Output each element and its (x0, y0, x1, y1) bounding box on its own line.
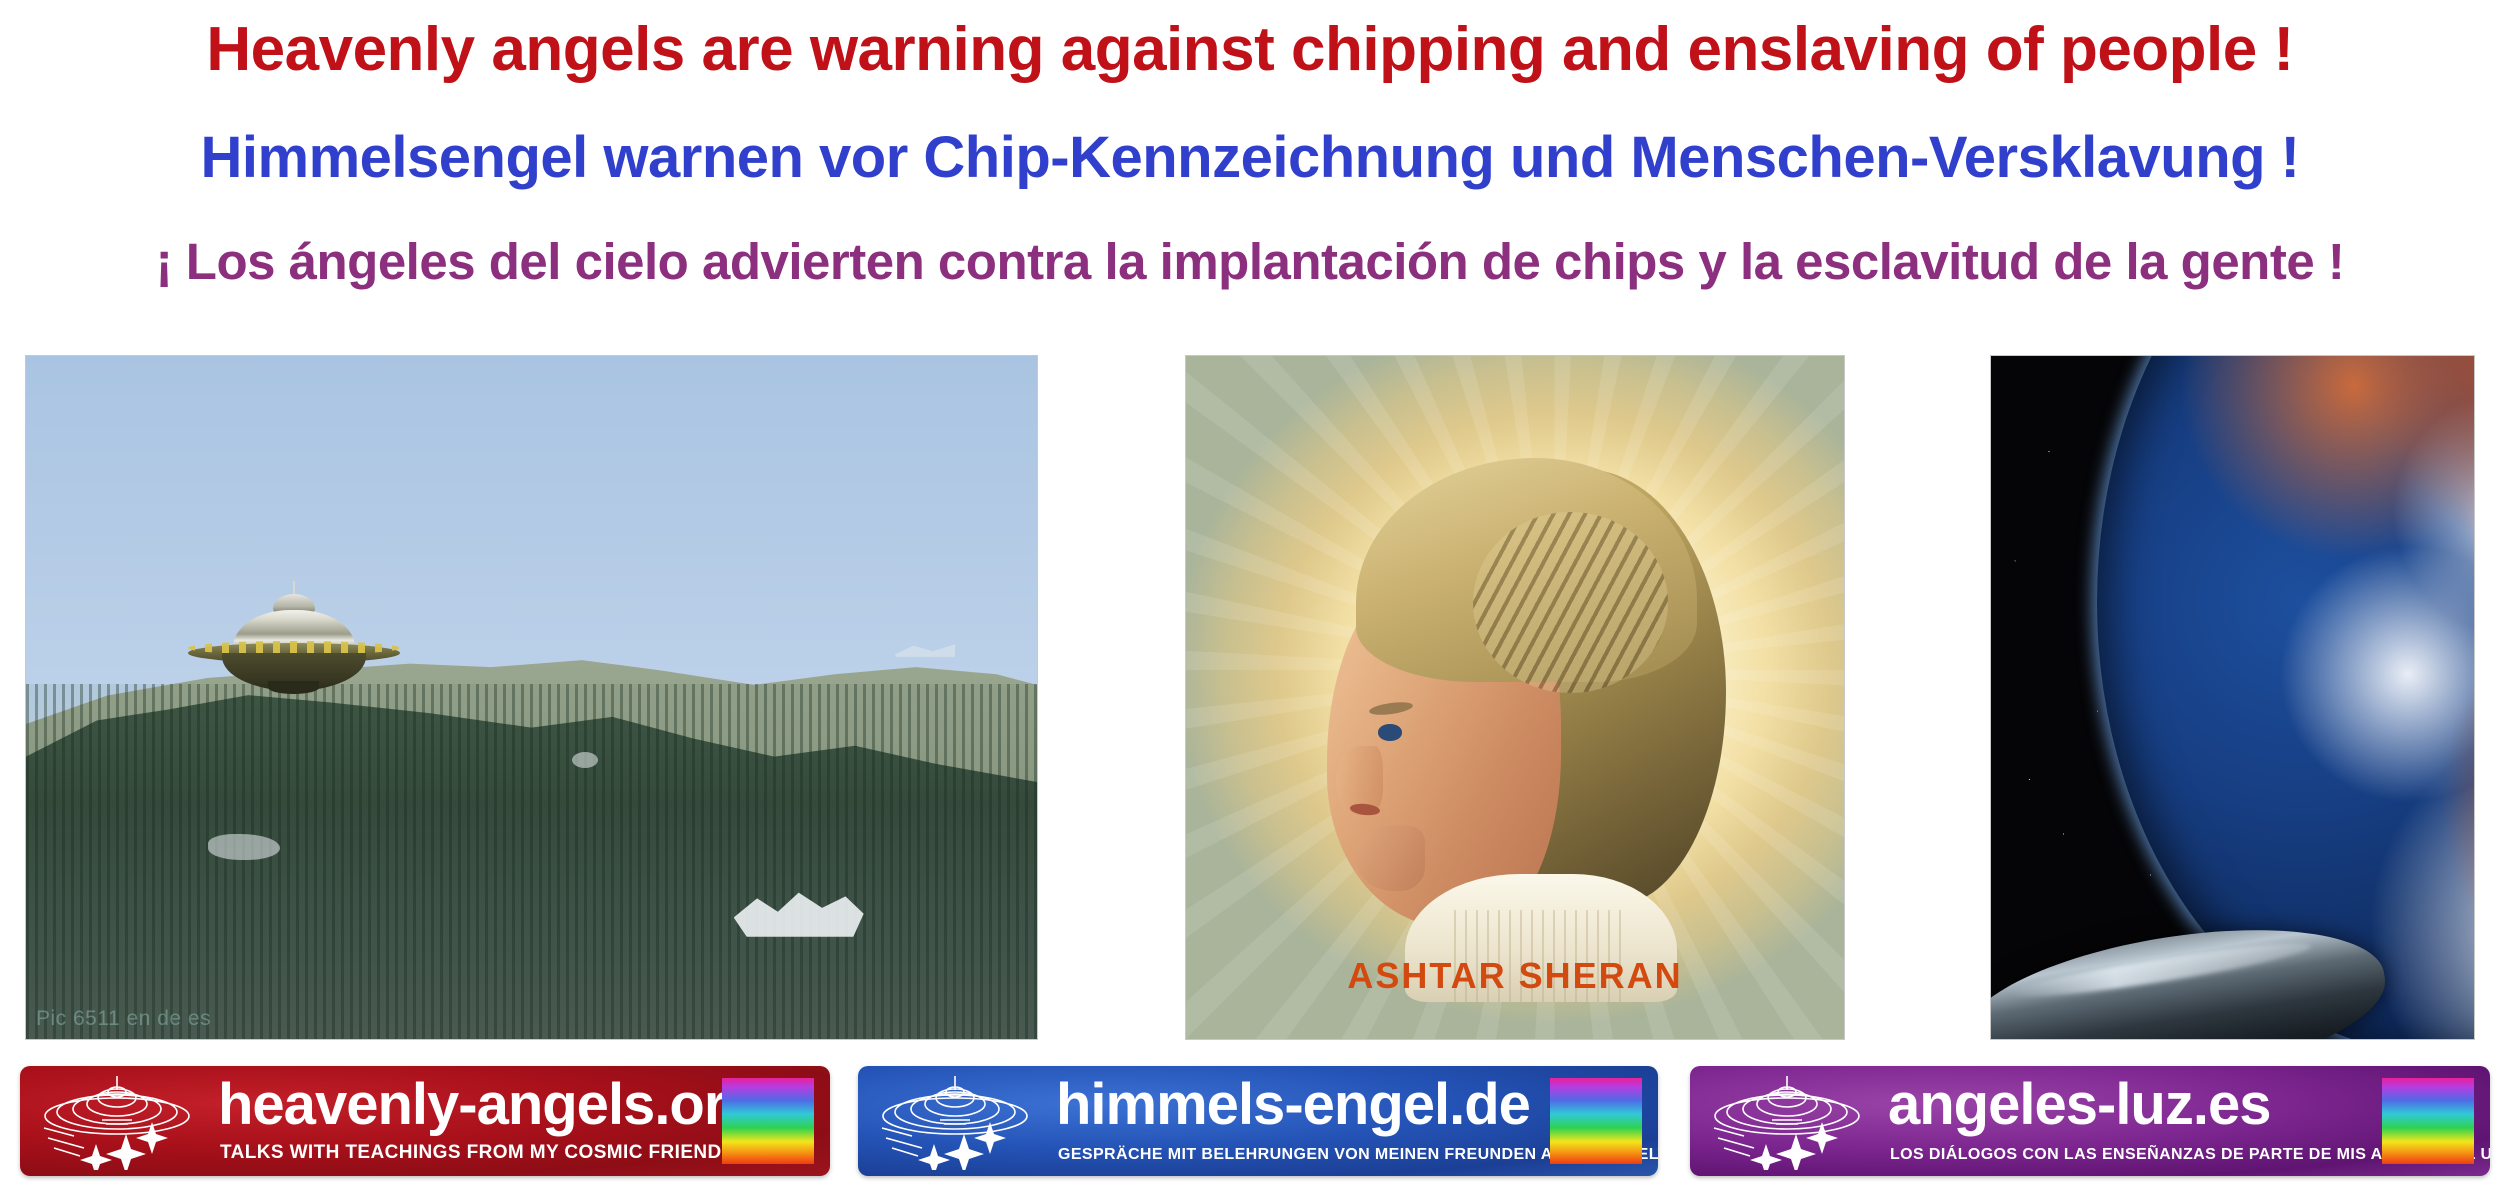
banner-logo (1706, 1072, 1884, 1172)
hair-wave-texture (1473, 512, 1668, 693)
poster-root: Heavenly angels are warning against chip… (0, 0, 2500, 1203)
sparkle-star-icon (1710, 1118, 1870, 1170)
conifer-forest-texture (26, 684, 1037, 1039)
photo-ufo-landscape: Pic 6511 en de es (25, 355, 1038, 1040)
headline-spanish: ¡ Los ángeles del cielo advierten contra… (0, 232, 2500, 291)
eye (1378, 724, 1401, 740)
rainbow-gradient-swatch (1550, 1078, 1642, 1164)
banner-text: himmels-engel.de GESPRÄCHE MIT BELEHRUNG… (1056, 1072, 1530, 1172)
banner-title: heavenly-angels.org (218, 1074, 702, 1136)
banner-tagline: LOS DIÁLOGOS CON LAS ENSEÑANZAS DE PARTE… (1890, 1146, 2364, 1164)
banner-logo (874, 1072, 1052, 1172)
headline-german: Himmelsengel warnen vor Chip-Kennzeichnu… (0, 124, 2500, 191)
banner-tagline: TALKS WITH TEACHINGS FROM MY COSMIC FRIE… (220, 1142, 704, 1164)
photo-ashtar-portrait: ASHTAR SHERAN (1185, 355, 1845, 1040)
banner-text: heavenly-angels.org TALKS WITH TEACHINGS… (218, 1072, 702, 1172)
rainbow-gradient-swatch (722, 1078, 814, 1164)
banner-himmels-engel[interactable]: himmels-engel.de GESPRÄCHE MIT BELEHRUNG… (858, 1066, 1658, 1176)
banner-text: angeles-luz.es LOS DIÁLOGOS CON LAS ENSE… (1888, 1072, 2362, 1172)
eyebrow (1368, 700, 1413, 717)
snow-patch (572, 752, 598, 768)
photo-watermark: Pic 6511 en de es (36, 1007, 211, 1031)
photo-row: Pic 6511 en de es ASH (0, 355, 2500, 1040)
ufo-keel (268, 681, 319, 694)
banner-logo (36, 1072, 214, 1172)
ufo-beamship-icon (188, 581, 400, 693)
banner-title: himmels-engel.de (1056, 1074, 1530, 1136)
banner-angeles-luz[interactable]: angeles-luz.es LOS DIÁLOGOS CON LAS ENSE… (1690, 1066, 2490, 1176)
chin (1355, 826, 1425, 891)
photo-earth-mothership (1990, 355, 2475, 1040)
portrait-head (1278, 458, 1765, 991)
sparkle-star-icon (878, 1118, 1038, 1170)
rainbow-gradient-swatch (2382, 1078, 2474, 1164)
headline-english: Heavenly angels are warning against chip… (0, 14, 2500, 85)
banner-heavenly-angels[interactable]: heavenly-angels.org TALKS WITH TEACHINGS… (20, 1066, 830, 1176)
snow-patch (208, 834, 280, 860)
banner-row: heavenly-angels.org TALKS WITH TEACHINGS… (0, 1066, 2500, 1186)
ashtar-sheran-label: ASHTAR SHERAN (1186, 955, 1844, 997)
sparkle-star-icon (40, 1118, 200, 1170)
banner-title: angeles-luz.es (1888, 1074, 2362, 1136)
banner-tagline: GESPRÄCHE MIT BELEHRUNGEN VON MEINEN FRE… (1058, 1146, 1532, 1164)
